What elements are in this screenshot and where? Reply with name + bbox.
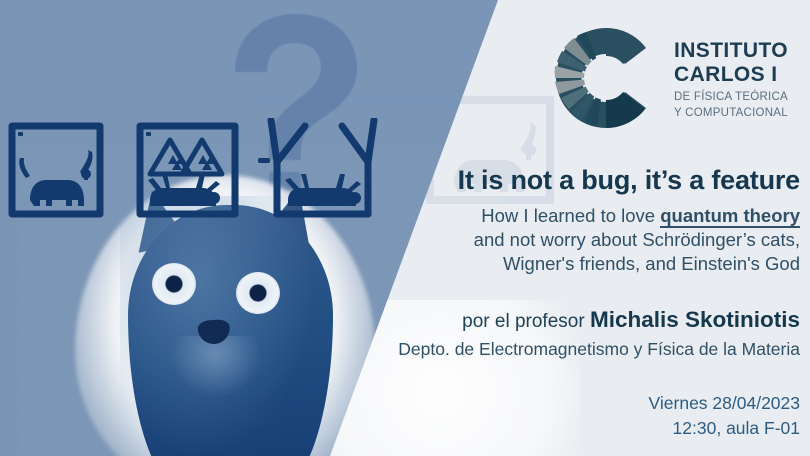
institute-logo: INSTITUTO CARLOS I DE FÍSICA TEÓRICA Y C…: [552, 24, 788, 132]
box2-cat-dead: [148, 174, 220, 206]
poster: INSTITUTO CARLOS I DE FÍSICA TEÓRICA Y C…: [0, 0, 810, 456]
speaker-line: por el profesor Michalis Skotiniotis: [388, 305, 800, 335]
event-date: Viernes 28/04/2023: [388, 391, 800, 416]
logo-line-carlos-i: CARLOS I: [674, 63, 788, 87]
speaker-department: Depto. de Electromagnetismo y Física de …: [388, 338, 800, 361]
logo-line-instituto: INSTITUTO: [674, 39, 788, 63]
subtitle-line-2: and not worry about Schrödinger’s cats,: [388, 228, 800, 252]
logo-line-computacional: Y COMPUTACIONAL: [674, 106, 788, 121]
speaker-prefix: por el profesor: [462, 311, 590, 332]
schrodinger-boxes: [0, 118, 440, 223]
speaker-name: Michalis Skotiniotis: [590, 307, 800, 332]
logo-wordmark: INSTITUTO CARLOS I DE FÍSICA TEÓRICA Y C…: [674, 35, 788, 120]
instituto-carlos-i-c-icon: [552, 24, 660, 132]
talk-details: It is not a bug, it’s a feature How I le…: [388, 165, 800, 441]
subtitle-line-3: Wigner's friends, and Einstein's God: [388, 252, 800, 276]
subtitle-line-1: How I learned to love quantum theory: [388, 204, 800, 228]
event-when: Viernes 28/04/2023 12:30, aula F-01: [388, 391, 800, 441]
box3-cat-dead: [285, 174, 361, 206]
subtitle-prefix: How I learned to love: [481, 205, 660, 226]
logo-line-fisica-teorica: DE FÍSICA TEÓRICA: [674, 90, 788, 105]
talk-subtitle: How I learned to love quantum theory and…: [388, 204, 800, 276]
event-time-room: 12:30, aula F-01: [388, 416, 800, 441]
talk-title: It is not a bug, it’s a feature: [388, 165, 800, 195]
subtitle-emphasis-quantum-theory: quantum theory: [660, 205, 800, 228]
box2-hazard-triangles: [150, 140, 222, 174]
box1-cat-alive: [19, 150, 92, 206]
